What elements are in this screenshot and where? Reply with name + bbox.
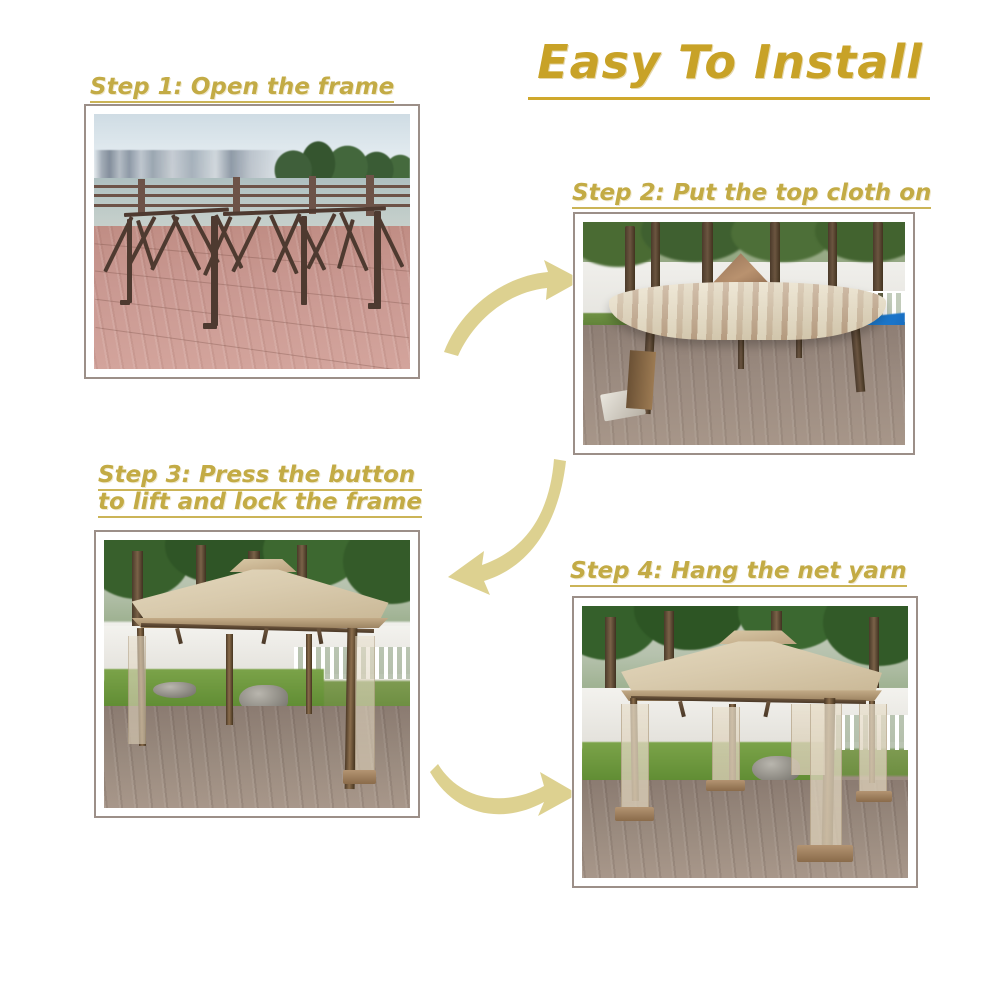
gazebo-post [226,634,233,725]
corner-netting [128,636,145,743]
step-3-photo [104,540,410,808]
step-3-label-line-1: Step 3: Press the button [98,462,422,489]
netting-base [797,845,852,861]
step-1-label-line-1: Step 1: Open the frame [90,74,394,101]
step-2-photo [583,222,905,445]
step-1-photo-frame [84,104,420,379]
step-4-label-line-1: Step 4: Hang the net yarn [570,558,907,585]
page-title-underline [528,97,930,100]
canopy-roof [132,569,389,623]
step-2-photo-frame [573,212,915,455]
step-4-photo [582,606,908,878]
canopy-roof [621,641,882,695]
step-3-label: Step 3: Press the button to lift and loc… [98,462,422,516]
mesh-netting-panel [859,704,887,796]
step-3-photo-frame [94,530,420,818]
netting-base [615,807,654,821]
step-2-label: Step 2: Put the top cloth on [572,180,931,207]
netting-base [856,791,892,802]
roof-brace [176,628,184,645]
netting-base [706,780,745,791]
corner-netting [355,636,375,775]
step-1-photo [94,114,410,369]
infographic-canvas: Easy To Install Step 1: Open the frame [0,0,1000,1000]
netting-base [343,770,377,783]
step-1-label: Step 1: Open the frame [90,74,394,101]
gazebo-structure [104,540,410,808]
draped-canopy-cloth [609,282,886,340]
gazebo-post [306,634,312,714]
step-2-label-line-1: Step 2: Put the top cloth on [572,180,931,207]
step-4-label: Step 4: Hang the net yarn [570,558,907,585]
arrow-step3-to-step4 [428,742,593,842]
gazebo-structure [582,606,908,878]
hanging-cloth [626,351,656,411]
roof-brace [261,628,268,645]
roof-brace [678,701,686,718]
step-3-label-line-2: to lift and lock the frame [98,489,422,516]
step-4-photo-frame [572,596,918,888]
mesh-netting-panel [712,707,740,786]
mesh-netting-panel [810,704,841,851]
page-title: Easy To Install [520,38,940,86]
mesh-netting-panel [621,704,649,813]
roof-brace [763,701,770,718]
gazebo-scissor-frame [107,201,398,329]
